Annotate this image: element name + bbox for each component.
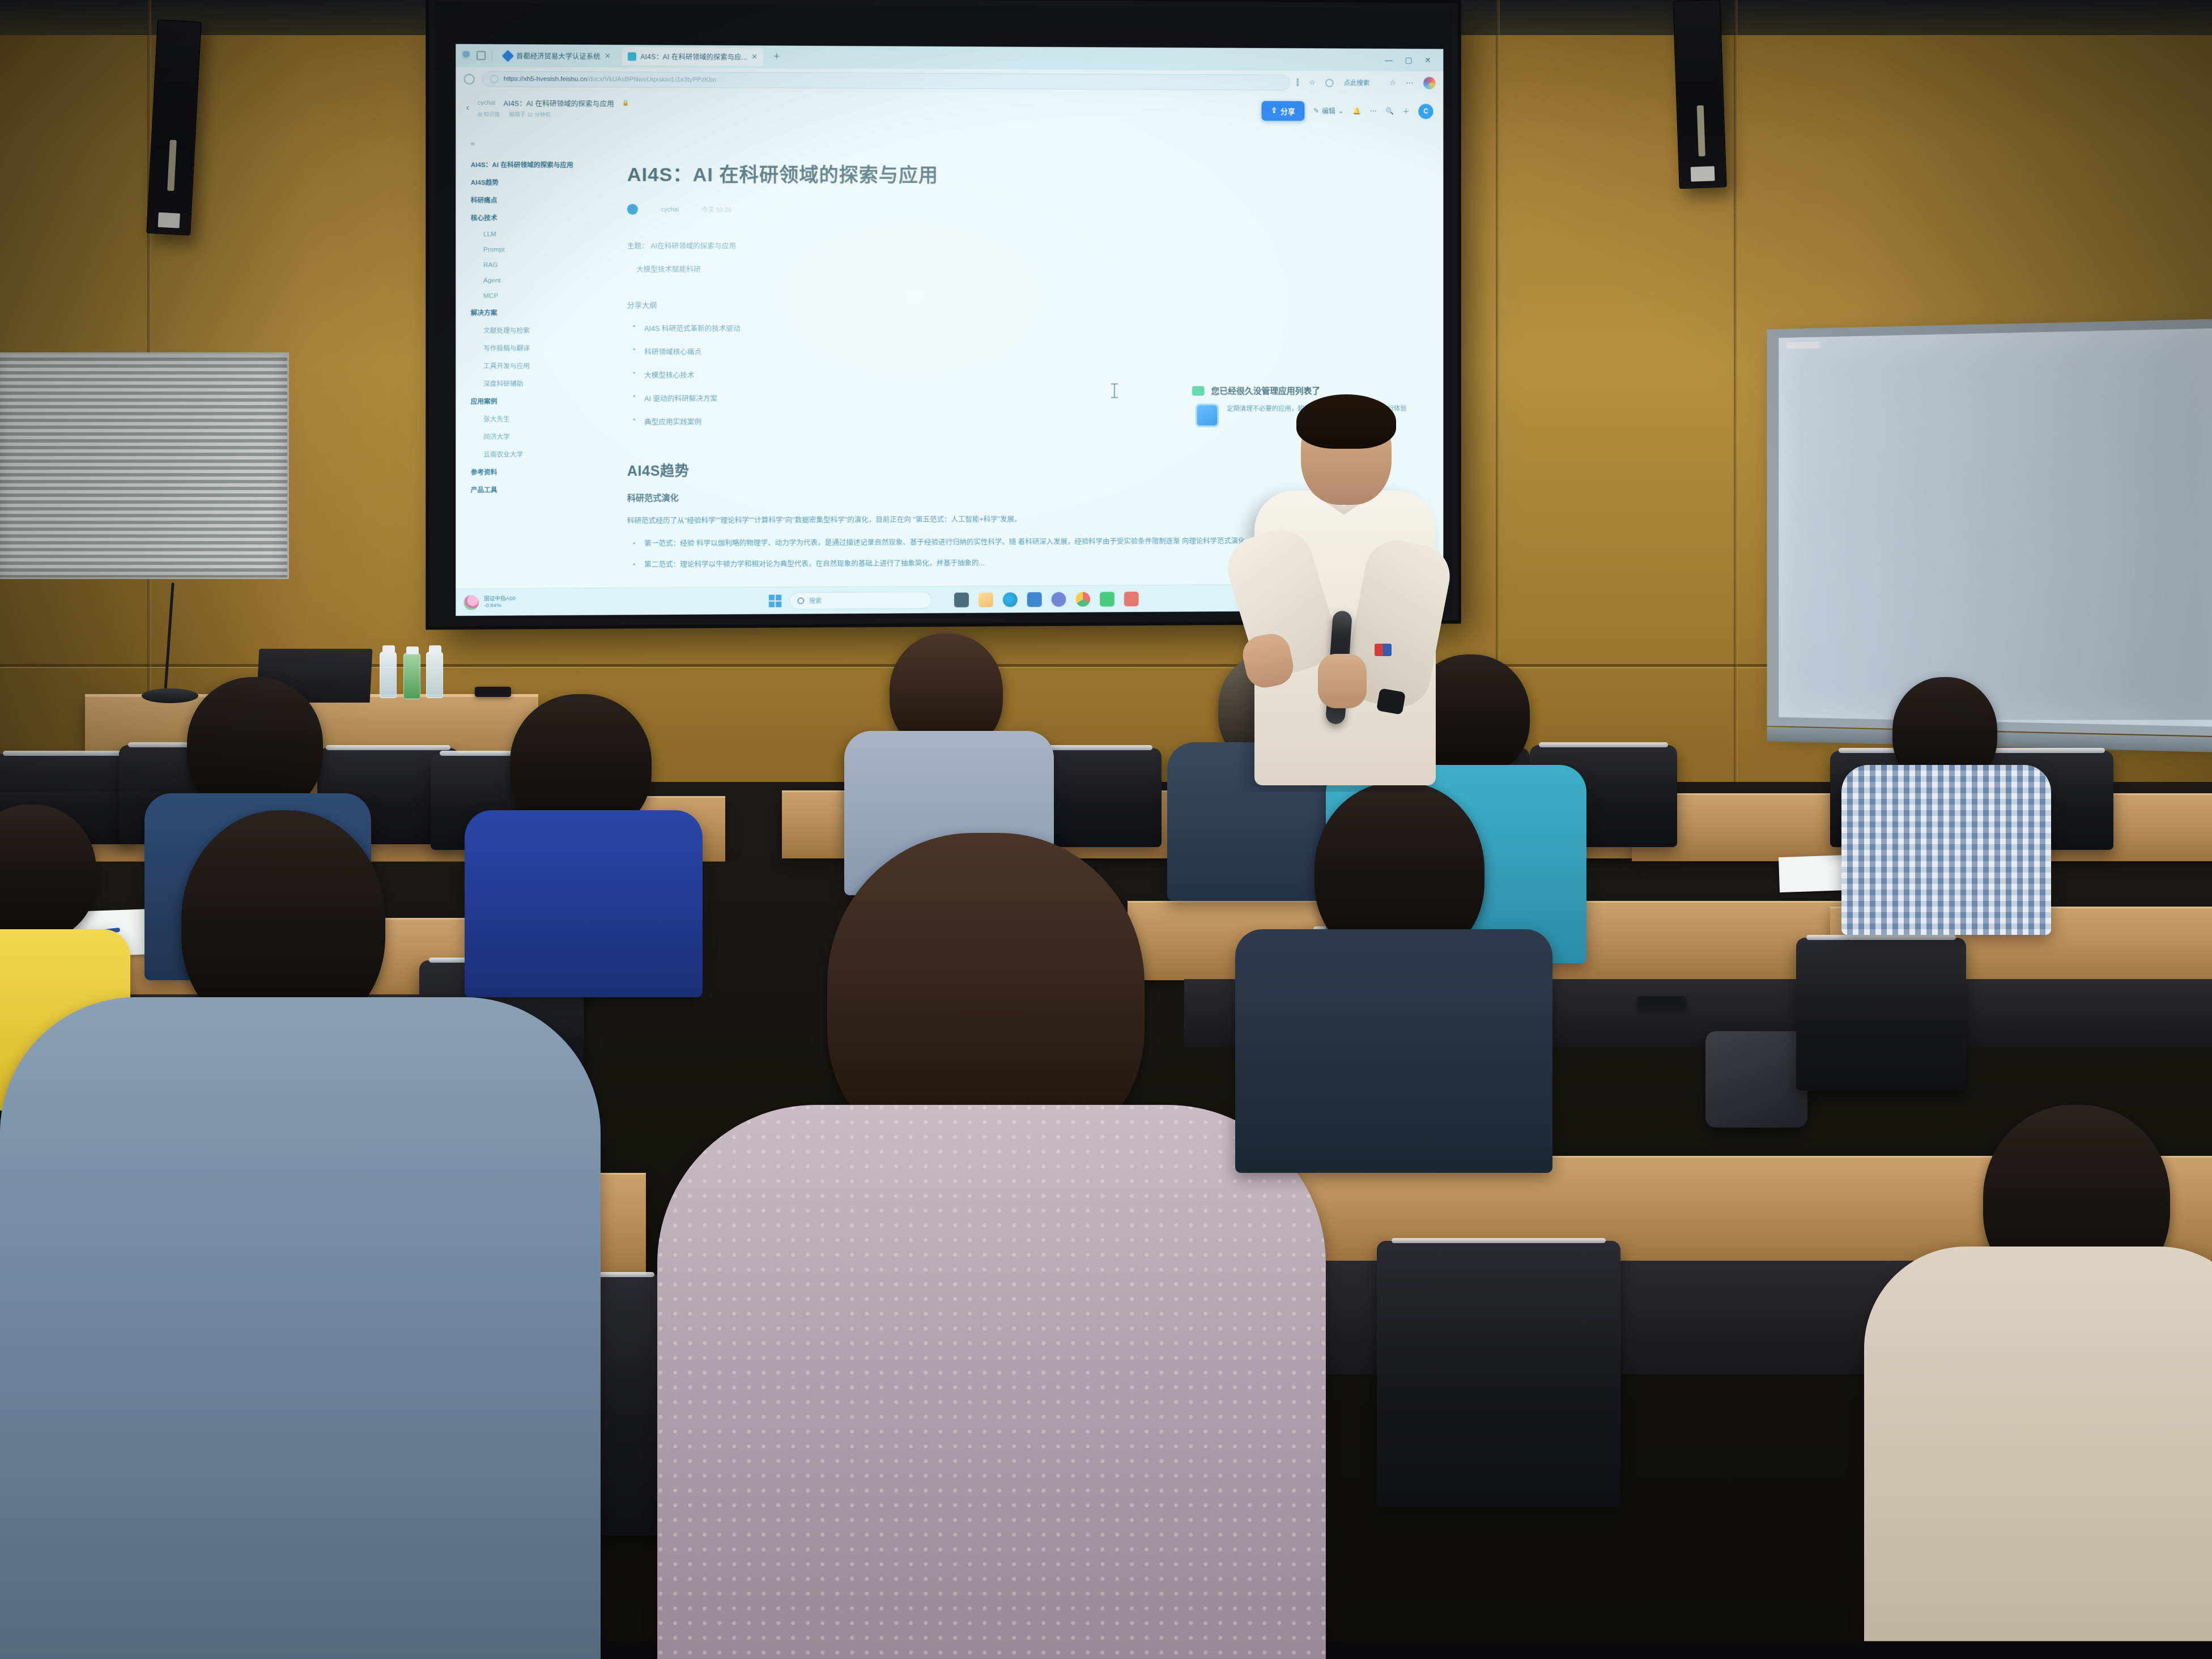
taskbar-app-icons (954, 592, 1138, 607)
chevron-down-icon: ⌄ (1338, 107, 1344, 115)
close-window-button[interactable]: ✕ (1424, 56, 1431, 65)
avatar[interactable]: C (1418, 104, 1433, 119)
toast-header: 您已经很久没管理应用列表了 (1192, 385, 1426, 397)
sidebar-item-case-zhang[interactable]: 张大先生 (471, 410, 611, 428)
stock-change: -0.84% (484, 602, 516, 609)
search-icon[interactable] (1325, 78, 1334, 87)
stock-name: 国证中指A50 (484, 595, 516, 602)
whiteboard (1767, 318, 2212, 736)
presenter (1247, 400, 1439, 785)
breadcrumb-doc-name[interactable]: AI4S：AI 在科研领域的探索与应用 (504, 97, 614, 109)
wps-icon[interactable] (1124, 592, 1138, 606)
browser-tab-1[interactable]: 首都经济贸易大学认证系统 ✕ (498, 46, 616, 65)
page-title: AI4S：AI 在科研领域的探索与应用 (627, 159, 1444, 189)
favorite-icon[interactable]: ☆ (1389, 78, 1396, 87)
torso (1841, 765, 2051, 935)
doc-byline: cychai 今天 10:26 (627, 204, 1444, 216)
text-cursor-icon (1114, 384, 1115, 398)
sidebar-item-tooling[interactable]: 工具开发与应用 (471, 357, 611, 375)
sidebar-item-painpoints[interactable]: 科研痛点 (471, 191, 611, 209)
minimize-button[interactable]: — (1385, 55, 1393, 65)
chair (1796, 938, 1966, 1091)
breadcrumb: cychai AI4S：AI 在科研领域的探索与应用 🔒 ⊞ 知识库 编辑于 1… (478, 97, 629, 118)
new-tab-button[interactable]: + (769, 50, 784, 63)
sidebar-item-prompt[interactable]: Prompt (471, 242, 611, 257)
browser-omnibox-row: https://xh5-hvesish.feishu.cn/docx/VkUAs… (456, 67, 1443, 95)
smartphone (475, 687, 511, 697)
edge-icon[interactable] (1002, 592, 1017, 607)
window-controls: — ▢ ✕ (1385, 55, 1437, 65)
taskbar-stock-widget[interactable]: 国证中指A50 -0.84% (464, 595, 516, 610)
omnibox-actions: ⫿ ☆ 点此搜索 ☆ ⋯ (1296, 76, 1435, 90)
torso (0, 997, 601, 1659)
sidebar-item-solutions[interactable]: 解决方案 (471, 304, 611, 321)
doc-updated: 今天 10:26 (701, 205, 731, 214)
list-item: 科研领域核心痛点 (627, 345, 1444, 356)
file-explorer-icon[interactable] (978, 592, 993, 607)
divider (491, 50, 492, 61)
breadcrumb-meta: ⊞ 知识库 编辑于 11 分钟前 (478, 110, 629, 118)
tab-title: 首都经济贸易大学认证系统 (516, 51, 601, 61)
speaker-badge (1697, 105, 1705, 156)
backpack (1705, 1031, 1807, 1128)
torso (657, 1105, 1326, 1659)
sidebar-item-references[interactable]: 参考资料 (471, 463, 611, 481)
vscode-icon[interactable] (954, 592, 968, 607)
chrome-icon[interactable] (1075, 592, 1090, 606)
word-icon[interactable] (1027, 592, 1041, 607)
wall-vent-grille (0, 352, 289, 579)
maximize-button[interactable]: ▢ (1405, 55, 1413, 65)
lock-icon: 🔒 (622, 100, 629, 107)
microphone-base (142, 688, 198, 703)
chair (1377, 1241, 1620, 1507)
chevron-left-icon[interactable]: ‹ (466, 102, 470, 113)
torso (1864, 1247, 2212, 1659)
sidebar-item-rag[interactable]: RAG (471, 257, 611, 273)
lapel-badge (1375, 644, 1392, 656)
doc-toolbar-actions: ⇪ 分享 ✎ 编辑 ⌄ 🔔 ⋯ 🔍 ＋ (1261, 101, 1433, 121)
url-path: /docx/VkUAsBPNwoUqxskxcLi1x3tyPPzKbn (587, 76, 716, 83)
url-domain: https://xh5-hvesish.feishu.cn (504, 76, 587, 83)
edit-label: 编辑 (1322, 106, 1335, 116)
taskbar-search-input[interactable]: 搜索 (789, 592, 931, 609)
pencil-icon: ✎ (1313, 107, 1319, 115)
doc-toolbar: ‹ cychai AI4S：AI 在科研领域的探索与应用 🔒 ⊞ 知识库 编辑于… (456, 91, 1443, 127)
tab-title: AI4S：AI 在科研领域的探索与应... (640, 52, 747, 62)
collections-icon[interactable] (477, 51, 486, 60)
mail-icon (1192, 386, 1205, 395)
breadcrumb-meta-0: ⊞ 知识库 (478, 110, 500, 118)
sidebar-item-case-yunnan[interactable]: 云南农业大学 (471, 445, 611, 463)
smartphone (1637, 996, 1686, 1010)
doc-topic-line: 主题： AI在科研领域的探索与应用 (627, 240, 1444, 252)
sidebar-item-literature[interactable]: 文献处理与检索 (471, 321, 611, 339)
torso (1235, 929, 1552, 1173)
split-screen-icon[interactable]: ⫿ (1296, 78, 1299, 87)
section-paragraph: 科研范式经历了从"经验科学""理论科学""计算科学"向"数据密集型科学"的演化，… (627, 512, 1284, 528)
presenter-hair (1296, 394, 1396, 449)
teams-icon[interactable] (1051, 592, 1066, 606)
torso (465, 810, 703, 997)
lecture-hall-scene: 首都经济贸易大学认证系统 ✕ AI4S：AI 在科研领域的探索与应... ✕ +… (0, 0, 2212, 1659)
address-bar[interactable]: https://xh5-hvesish.feishu.cn/docx/VkUAs… (482, 71, 1290, 90)
close-icon[interactable]: ✕ (751, 52, 758, 61)
ellipsis-icon[interactable]: ⋯ (1406, 79, 1414, 88)
star-icon[interactable]: ☆ (1309, 78, 1315, 87)
edit-mode-button[interactable]: ✎ 编辑 ⌄ (1313, 106, 1343, 116)
plus-icon[interactable]: ＋ (1403, 107, 1410, 116)
water-bottle (426, 652, 443, 698)
wall-speaker-right (1673, 0, 1727, 189)
doc-author: cychai (661, 206, 679, 212)
url-text: https://xh5-hvesish.feishu.cn/docx/VkUAs… (504, 76, 716, 84)
whiteboard-label-tag (1786, 342, 1819, 349)
copilot-icon[interactable] (1423, 77, 1436, 90)
sidebar-item-case-tongji[interactable]: 同济大学 (471, 427, 611, 445)
list-item: 大模型核心技术 (627, 368, 1444, 380)
wall-vertical-seam (1734, 0, 1738, 793)
taskbar-center: 搜索 (769, 590, 1139, 610)
water-bottle (403, 653, 420, 699)
doc-subtitle-line: 大模型技术赋能科研 (627, 263, 1444, 274)
toast-title: 您已经很久没管理应用列表了 (1211, 385, 1320, 397)
breadcrumb-owner[interactable]: cychai (478, 99, 496, 106)
share-icon: ⇪ (1271, 106, 1277, 115)
sidebar-item-agent[interactable]: Agent (471, 273, 611, 288)
wechat-icon[interactable] (1100, 592, 1114, 606)
sidebar-item-llm[interactable]: LLM (471, 227, 611, 243)
sidebar-item-trend[interactable]: AI4S趋势 (471, 173, 611, 192)
bell-icon[interactable]: 🔔 (1352, 107, 1361, 115)
blue-diamond-icon (502, 50, 514, 62)
avatar (627, 204, 638, 215)
sidebar-item-tools[interactable]: 产品工具 (471, 480, 611, 499)
close-icon[interactable]: ✕ (605, 52, 611, 61)
search-placeholder: 搜索 (809, 596, 822, 605)
speaker-badge (167, 140, 177, 192)
windows-logo-icon[interactable] (769, 594, 781, 607)
share-button[interactable]: ⇪ 分享 (1261, 101, 1304, 121)
sidebar-item-title[interactable]: AI4S：AI 在科研领域的探索与应用 (471, 156, 611, 174)
wristwatch (1376, 688, 1406, 714)
collapse-outline-button[interactable]: « (471, 139, 611, 148)
share-label: 分享 (1281, 105, 1295, 116)
shield-icon (490, 75, 498, 83)
doc-outline-sidebar: « AI4S：AI 在科研领域的探索与应用 AI4S趋势 科研痛点 核心技术 L… (456, 124, 611, 589)
ellipsis-icon[interactable]: ⋯ (1370, 107, 1377, 115)
breadcrumb-meta-1: 编辑于 11 分钟前 (509, 110, 551, 118)
omnibox-search-hint: 点此搜索 (1344, 78, 1369, 87)
search-icon (797, 597, 804, 604)
agenda-heading: 分享大纲 (627, 299, 1444, 310)
sidebar-item-deepresearch[interactable]: 深度科研辅助 (471, 375, 611, 393)
sidebar-item-mcp[interactable]: MCP (471, 288, 611, 304)
water-bottle (380, 652, 397, 698)
presenter-right-hand (1318, 654, 1367, 708)
app-store-icon (1196, 403, 1219, 427)
sidebar-item-cases[interactable]: 应用案例 (471, 392, 611, 410)
weather-stock-icon (464, 595, 479, 610)
sidebar-item-coretech[interactable]: 核心技术 (471, 209, 611, 227)
list-item: AI4S 科研范式革新的技术驱动 (627, 322, 1444, 333)
browser-tab-2[interactable]: AI4S：AI 在科研领域的探索与应... ✕ (622, 47, 763, 66)
profile-icon[interactable] (461, 51, 470, 60)
reload-icon[interactable] (464, 74, 475, 84)
search-icon[interactable]: 🔍 (1385, 107, 1394, 115)
feishu-doc-icon (628, 52, 636, 61)
sidebar-item-writing[interactable]: 写作投稿与翻译 (471, 339, 611, 356)
